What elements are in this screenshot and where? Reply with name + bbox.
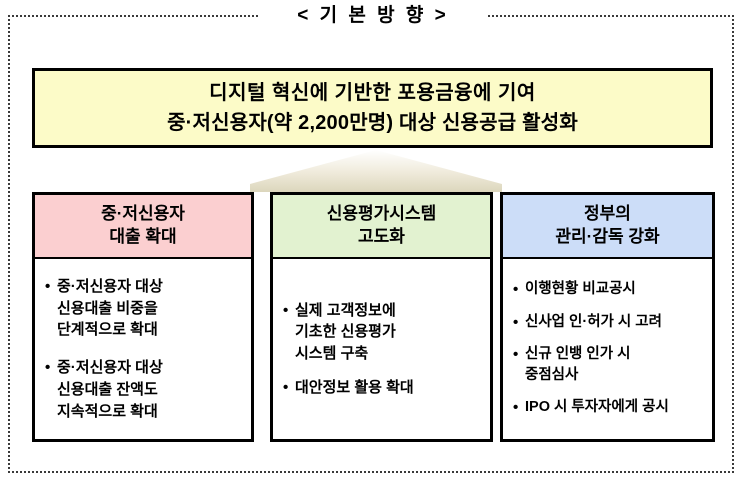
pillar-2-body: • 실제 고객정보에 기초한 신용평가 시스템 구축 • 대안정보 활용 확대 (273, 259, 490, 439)
pillar-1-body: • 중·저신용자 대상 신용대출 비중을 단계적으로 확대 • 중·저신용자 대… (35, 259, 251, 439)
banner-line-2: 중·저신용자(약 2,200만명) 대상 신용공급 활성화 (167, 108, 578, 138)
list-item: • 중·저신용자 대상 신용대출 비중을 단계적으로 확대 (45, 276, 243, 341)
list-item: • 대안정보 활용 확대 (283, 377, 482, 399)
list-item: • 신사업 인·허가 시 고려 (513, 312, 704, 334)
pillar-2-header-line-1: 신용평가시스템 (327, 203, 436, 226)
pillar-1-header: 중·저신용자 대출 확대 (35, 195, 251, 259)
upward-funnel-arrow-icon (250, 150, 502, 192)
pillar-card-3: 정부의 관리·감독 강화 • 이행현황 비교공시 • 신사업 인·허가 시 고려… (500, 192, 715, 442)
pillar-1-header-line-2: 대출 확대 (109, 226, 176, 249)
page-title: < 기 본 방 향 > (258, 2, 488, 30)
list-item: • IPO 시 투자자에게 공시 (513, 397, 704, 419)
pillar-3-body: • 이행현황 비교공시 • 신사업 인·허가 시 고려 • 신규 인뱅 인가 시… (503, 259, 712, 439)
pillar-card-2: 신용평가시스템 고도화 • 실제 고객정보에 기초한 신용평가 시스템 구축 •… (270, 192, 493, 442)
pillar-2-header: 신용평가시스템 고도화 (273, 195, 490, 259)
list-item-text: 이행현황 비교공시 (525, 279, 704, 300)
list-item-text: 중·저신용자 대상 신용대출 잔액도 지속적으로 확대 (57, 357, 243, 422)
bullet-dot-icon: • (283, 300, 295, 322)
bullet-dot-icon: • (513, 397, 525, 419)
list-item-text: 신사업 인·허가 시 고려 (525, 312, 704, 333)
list-item-text: 중·저신용자 대상 신용대출 비중을 단계적으로 확대 (57, 276, 243, 341)
bullet-dot-icon: • (513, 279, 525, 301)
pillar-card-1: 중·저신용자 대출 확대 • 중·저신용자 대상 신용대출 비중을 단계적으로 … (32, 192, 254, 442)
bullet-dot-icon: • (45, 276, 57, 298)
list-item-text: 대안정보 활용 확대 (295, 377, 482, 399)
list-item: • 중·저신용자 대상 신용대출 잔액도 지속적으로 확대 (45, 357, 243, 422)
pillar-2-header-line-2: 고도화 (358, 226, 405, 249)
main-goal-banner: 디지털 혁신에 기반한 포용금융에 기여 중·저신용자(약 2,200만명) 대… (32, 68, 713, 148)
list-item: • 신규 인뱅 인가 시 중점심사 (513, 344, 704, 386)
list-item-text: 신규 인뱅 인가 시 중점심사 (525, 344, 704, 386)
banner-line-1: 디지털 혁신에 기반한 포용금융에 기여 (209, 78, 536, 108)
bullet-dot-icon: • (45, 357, 57, 379)
bullet-dot-icon: • (513, 312, 525, 334)
list-item: • 실제 고객정보에 기초한 신용평가 시스템 구축 (283, 300, 482, 365)
pillar-3-header-line-1: 정부의 (584, 203, 631, 226)
pillar-3-header-line-2: 관리·감독 강화 (555, 226, 659, 249)
pillar-3-header: 정부의 관리·감독 강화 (503, 195, 712, 259)
list-item-text: IPO 시 투자자에게 공시 (525, 397, 704, 418)
list-item: • 이행현황 비교공시 (513, 279, 704, 301)
bullet-dot-icon: • (513, 344, 525, 366)
diagram-canvas: < 기 본 방 향 > 디지털 혁신에 기반한 포용금융에 기여 중·저신용자(… (0, 0, 742, 488)
pillar-1-header-line-1: 중·저신용자 (101, 203, 185, 226)
list-item-text: 실제 고객정보에 기초한 신용평가 시스템 구축 (295, 300, 482, 365)
bullet-dot-icon: • (283, 377, 295, 399)
